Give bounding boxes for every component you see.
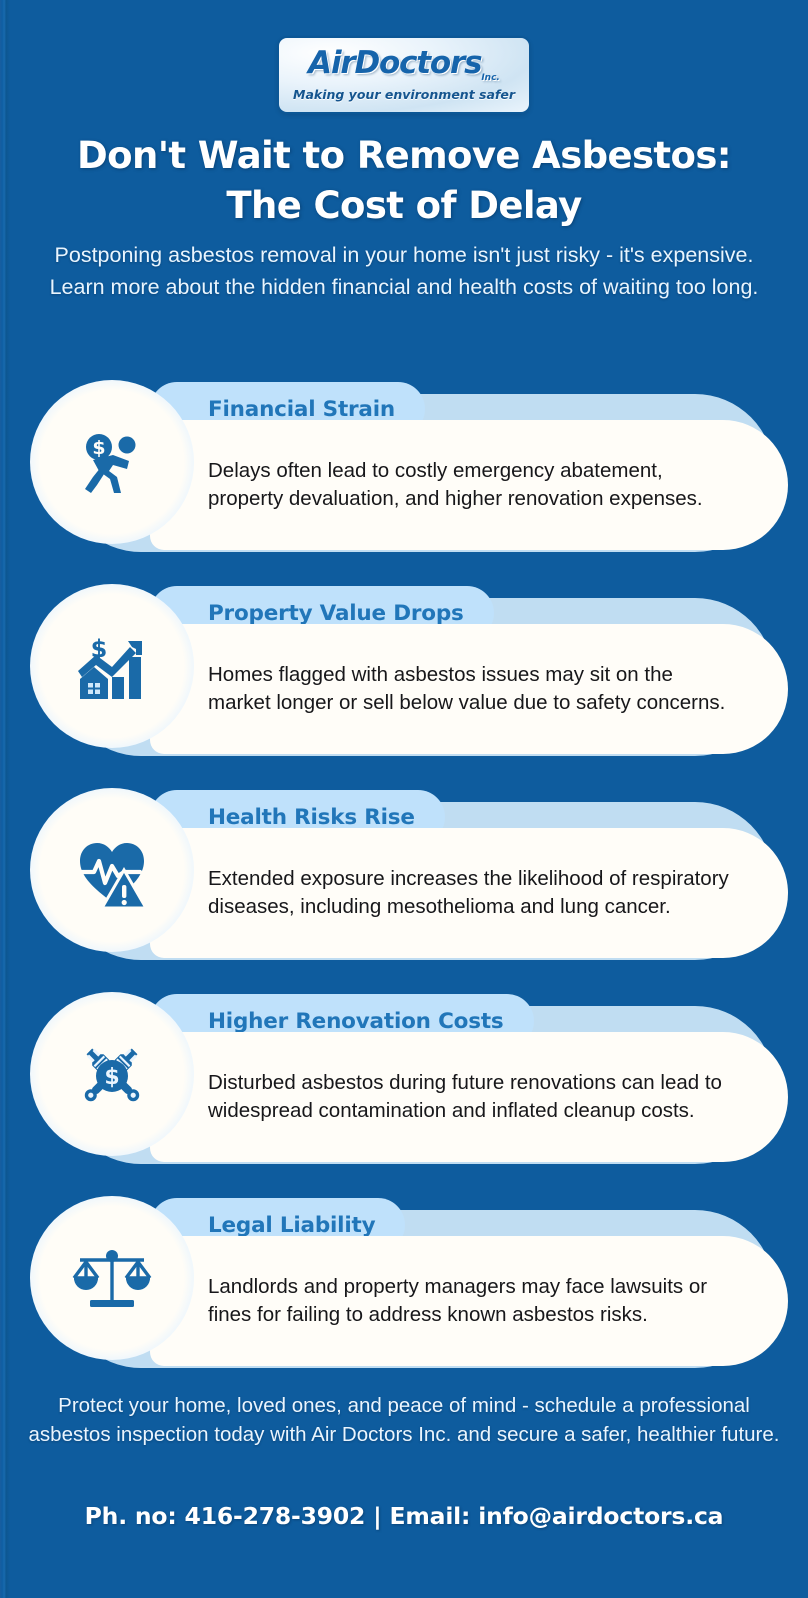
brand-logo: AirDoctorsInc. Making your environment s… bbox=[279, 38, 529, 112]
page-title: Don't Wait to Remove Asbestos: The Cost … bbox=[0, 131, 808, 231]
logo-tagline: Making your environment safer bbox=[293, 87, 515, 102]
card-title: Legal Liability bbox=[208, 1213, 375, 1238]
logo-inc-suffix: Inc. bbox=[481, 74, 500, 84]
card-description: Delays often lead to costly emergency ab… bbox=[150, 457, 788, 514]
cards-list: Financial Strain Delays often lead to co… bbox=[0, 372, 808, 1392]
card-description: Disturbed asbestos during future renovat… bbox=[150, 1069, 788, 1126]
card-body: Disturbed asbestos during future renovat… bbox=[150, 1032, 788, 1162]
card-body: Landlords and property managers may face… bbox=[150, 1236, 788, 1366]
card-description: Landlords and property managers may face… bbox=[150, 1273, 788, 1330]
logo-name: AirDoctors bbox=[308, 45, 481, 81]
crossed-wrenches-money-icon: $ bbox=[30, 992, 194, 1156]
card-body: Delays often lead to costly emergency ab… bbox=[150, 420, 788, 550]
card-description: Homes flagged with asbestos issues may s… bbox=[150, 661, 788, 718]
list-item: Health Risks Rise Extended exposure incr… bbox=[0, 780, 808, 984]
card-body: Extended exposure increases the likeliho… bbox=[150, 828, 788, 958]
card-title: Health Risks Rise bbox=[208, 805, 415, 830]
contact-info: Ph. no: 416-278-3902 | Email: info@airdo… bbox=[0, 1502, 808, 1530]
card-title: Property Value Drops bbox=[208, 601, 464, 626]
svg-text:$: $ bbox=[104, 1065, 119, 1090]
card-description: Extended exposure increases the likeliho… bbox=[150, 865, 788, 922]
list-item: Higher Renovation Costs Disturbed asbest… bbox=[0, 984, 808, 1188]
card-body: Homes flagged with asbestos issues may s… bbox=[150, 624, 788, 754]
svg-text:$: $ bbox=[92, 437, 105, 459]
page-subtitle: Postponing asbestos removal in your home… bbox=[0, 240, 808, 303]
heart-warning-icon bbox=[30, 788, 194, 952]
house-value-chart-icon: $ bbox=[30, 584, 194, 748]
logo-wordmark: AirDoctorsInc. bbox=[308, 48, 500, 83]
person-carrying-money-icon: $ bbox=[30, 380, 194, 544]
closing-statement: Protect your home, loved ones, and peace… bbox=[0, 1392, 808, 1449]
list-item: Property Value Drops Homes flagged with … bbox=[0, 576, 808, 780]
scales-of-justice-icon bbox=[30, 1196, 194, 1360]
card-title: Higher Renovation Costs bbox=[208, 1009, 504, 1034]
infographic-page: AirDoctorsInc. Making your environment s… bbox=[0, 0, 808, 1598]
list-item: Legal Liability Landlords and property m… bbox=[0, 1188, 808, 1392]
list-item: Financial Strain Delays often lead to co… bbox=[0, 372, 808, 576]
card-title: Financial Strain bbox=[208, 397, 395, 422]
